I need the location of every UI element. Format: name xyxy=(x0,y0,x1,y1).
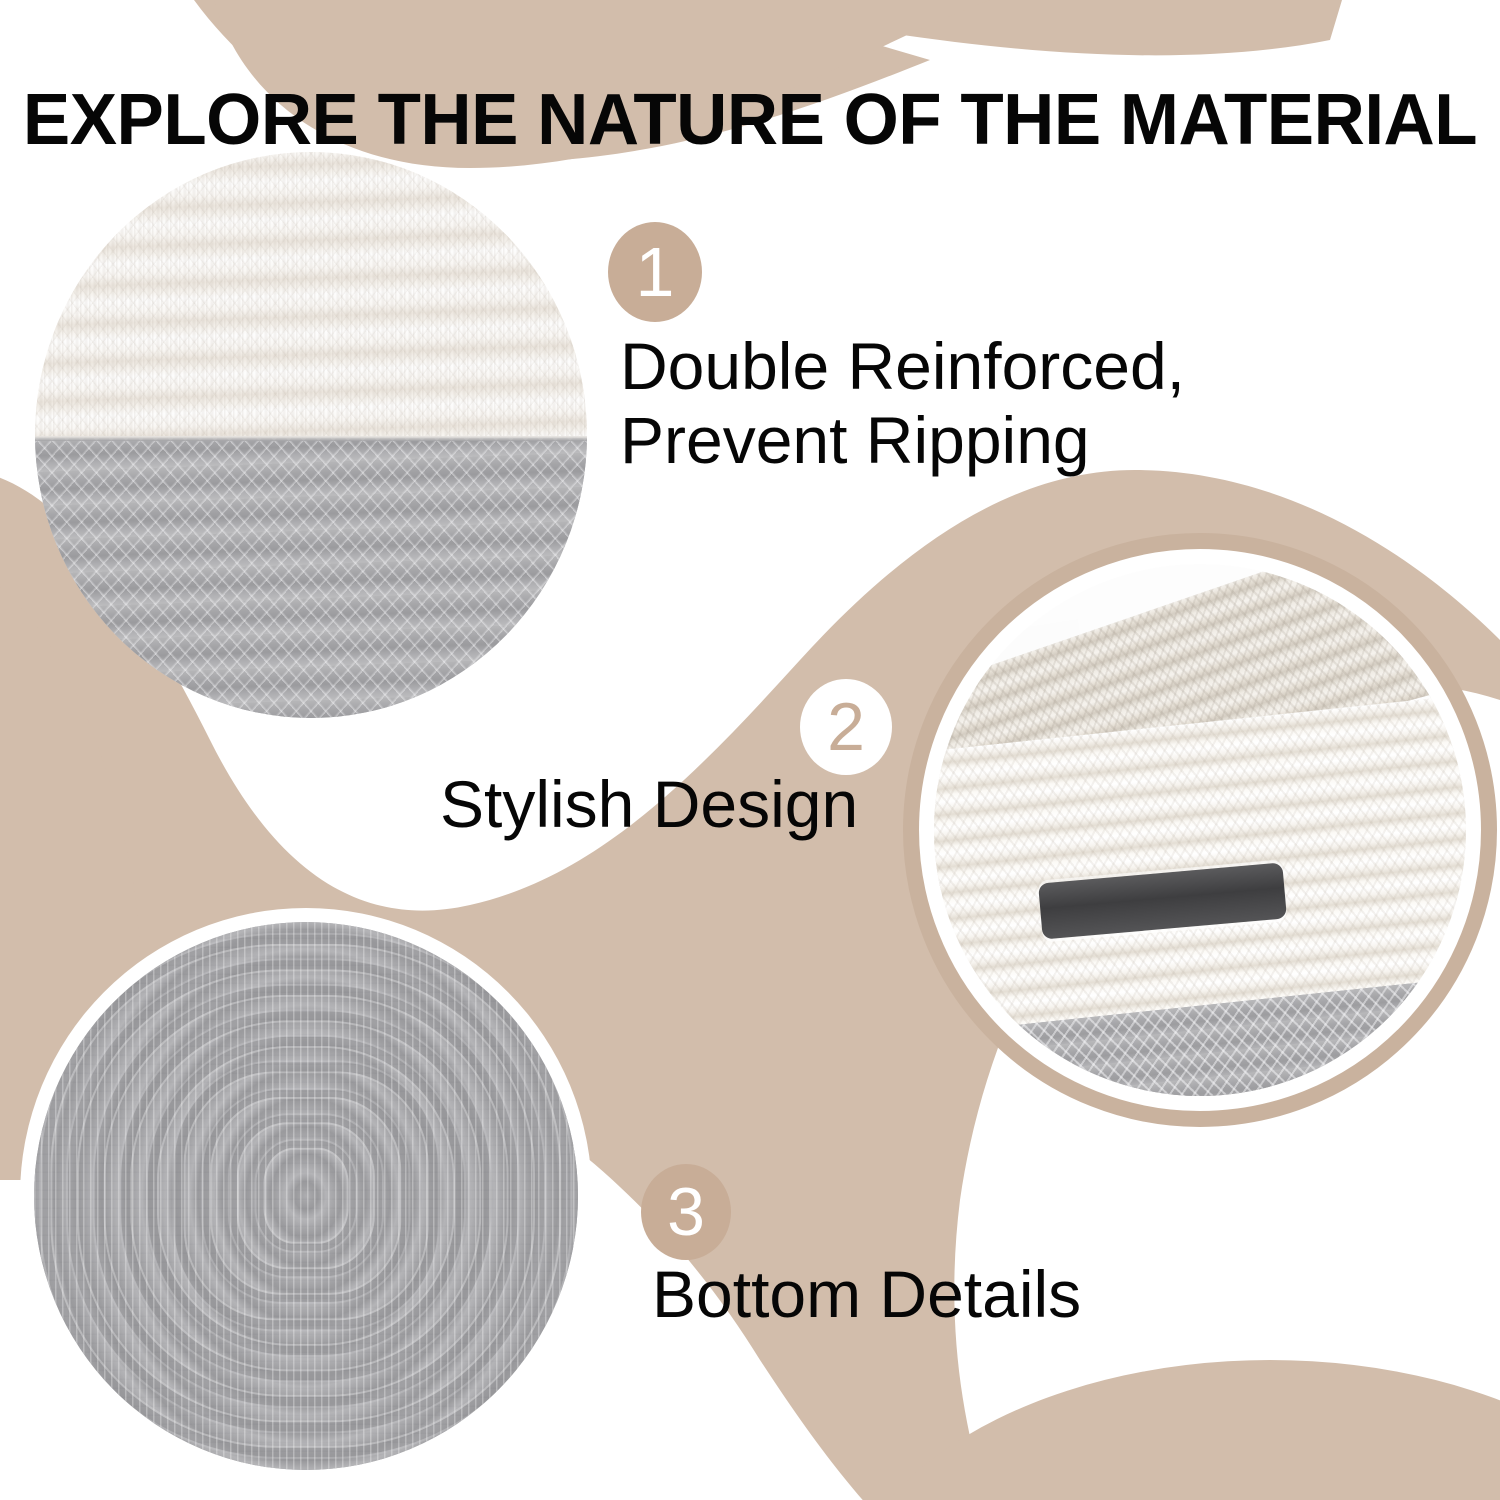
feature-photo-coiled-rope-bottom xyxy=(34,922,578,1470)
beige-shape-bottom-right xyxy=(840,1360,1500,1500)
feature-photo-basket-corner-handle xyxy=(934,564,1466,1096)
feature-badge-2: 2 xyxy=(800,679,892,775)
feature-badge-3: 3 xyxy=(641,1164,731,1260)
rope-band-seam xyxy=(35,436,587,441)
feature-title-3: Bottom Details xyxy=(652,1258,1292,1332)
page-title: EXPLORE THE NATURE OF THE MATERIAL xyxy=(11,84,1489,156)
product-feature-infographic: EXPLORE THE NATURE OF THE MATERIAL 1 Dou… xyxy=(0,0,1500,1500)
feature-title-2: Stylish Design xyxy=(440,768,1000,842)
rope-white-weave-texture xyxy=(35,152,587,438)
coil-fiber-texture xyxy=(34,922,578,1470)
basket-scene xyxy=(934,564,1466,1096)
feature-title-1: Double Reinforced, Prevent Ripping xyxy=(620,330,1440,478)
feature-badge-1: 1 xyxy=(608,222,702,322)
rope-grey-weave-texture xyxy=(35,438,587,718)
feature-photo-rope-weave-closeup xyxy=(35,152,587,718)
